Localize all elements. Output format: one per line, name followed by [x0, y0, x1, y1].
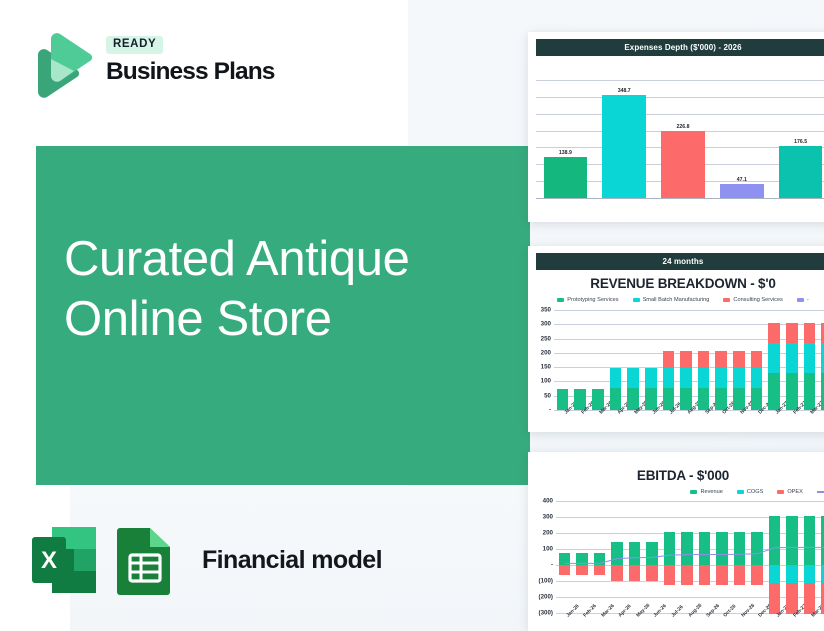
gridline — [554, 339, 824, 340]
gridline — [554, 324, 824, 325]
bar-segment — [768, 323, 780, 344]
bar-segment — [680, 368, 692, 388]
footer-bar: X Financial model — [30, 522, 382, 598]
play-triangle-logo-icon — [30, 32, 94, 98]
svg-text:X: X — [41, 547, 57, 574]
bar-segment — [645, 388, 657, 410]
bar-0 — [544, 157, 588, 198]
legend-label: - — [807, 297, 809, 303]
google-sheets-icon — [114, 525, 176, 595]
y-axis-label: 350 — [541, 307, 551, 314]
y-axis-label: 250 — [541, 335, 551, 342]
legend-label: Prototyping Services — [567, 297, 618, 303]
chart-card-revenue[interactable]: 24 months REVENUE BREAKDOWN - $'0 Protot… — [528, 246, 824, 432]
legend-label: OPEX — [787, 489, 803, 495]
bar-segment — [627, 368, 639, 388]
ebitda-chart-title: EBITDA - $'000 — [528, 468, 824, 483]
y-axis-label: 100 — [541, 378, 551, 385]
bar-segment — [768, 343, 780, 373]
revenue-chart-legend: Prototyping ServicesSmall Batch Manufact… — [528, 297, 824, 303]
legend-swatch-2 — [723, 298, 730, 302]
legend-label: Small Batch Manufacturing — [643, 297, 710, 303]
legend-swatch-0 — [690, 490, 697, 494]
bar-segment — [733, 351, 745, 368]
bar-segment — [733, 388, 745, 410]
y-axis-label: 200 — [541, 349, 551, 356]
ebitda-plot-area: 400300200100-(100)(200)(300)Jan-26Feb-26… — [556, 501, 824, 613]
y-axis-label: (300) — [539, 610, 553, 617]
page-title-line-2: Online Store — [64, 290, 514, 350]
bar-1 — [602, 95, 646, 198]
legend-swatch-1 — [737, 490, 744, 494]
bar-segment — [663, 351, 675, 368]
legend-swatch-3 — [817, 491, 824, 493]
bar-segment — [804, 323, 816, 344]
ebitda-chart-legend: RevenueCOGSOPEX0 — [528, 489, 824, 495]
hero-title-block: Curated Antique Online Store — [36, 146, 530, 485]
y-axis-label: (100) — [539, 578, 553, 585]
bar-segment — [751, 388, 763, 410]
bar-segment — [645, 368, 657, 388]
bar-segment — [610, 388, 622, 410]
legend-swatch-3 — [797, 298, 804, 302]
legend-label: Revenue — [700, 489, 722, 495]
bar-segment — [698, 368, 710, 388]
bar-segment — [680, 351, 692, 368]
y-axis-label: 50 — [544, 392, 551, 399]
legend-item: 0 — [817, 489, 824, 495]
bar-2 — [661, 131, 705, 198]
y-axis-label: 300 — [541, 321, 551, 328]
chart-card-expenses[interactable]: Expenses Depth ($'000) - 2026 138.9348.7… — [528, 32, 824, 222]
gridline — [536, 114, 824, 115]
revenue-chart-banner: 24 months — [536, 253, 824, 270]
legend-item: Consulting Services — [723, 297, 782, 303]
y-axis-label: 150 — [541, 364, 551, 371]
y-axis-label: 400 — [543, 498, 553, 505]
bar-segment — [610, 368, 622, 388]
legend-item: - — [797, 297, 809, 303]
expenses-chart-banner: Expenses Depth ($'000) - 2026 — [536, 39, 824, 56]
bar-segment — [715, 351, 727, 368]
y-axis-label: - — [551, 562, 553, 569]
revenue-chart-title: REVENUE BREAKDOWN - $'0 — [528, 276, 824, 291]
legend-label: COGS — [747, 489, 763, 495]
bar-segment — [786, 323, 798, 344]
bar-segment — [804, 343, 816, 373]
legend-swatch-2 — [777, 490, 784, 494]
bar-segment — [627, 388, 639, 410]
bar-label-1: 348.7 — [618, 88, 631, 94]
legend-swatch-0 — [557, 298, 564, 302]
brand-name: Business Plans — [106, 60, 275, 85]
bar-segment — [698, 351, 710, 368]
legend-item: Revenue — [690, 489, 722, 495]
bar-segment — [663, 368, 675, 388]
brand-logo: READY Business Plans — [30, 30, 330, 100]
gridline — [554, 310, 824, 311]
y-axis-label: 200 — [543, 530, 553, 537]
legend-swatch-1 — [633, 298, 640, 302]
chart-card-ebitda[interactable]: EBITDA - $'000 RevenueCOGSOPEX0 40030020… — [528, 452, 824, 631]
bar-segment — [751, 351, 763, 368]
y-axis-label: 100 — [543, 546, 553, 553]
bar-label-4: 176.5 — [794, 139, 807, 145]
legend-label: Consulting Services — [733, 297, 782, 303]
bar-segment — [592, 389, 604, 410]
bar-4 — [779, 146, 823, 198]
bar-3 — [720, 184, 764, 198]
page-title-line-1: Curated Antique — [64, 230, 514, 290]
axis-baseline — [536, 198, 824, 199]
gridline — [536, 80, 824, 81]
bar-segment — [751, 368, 763, 388]
y-axis-label: - — [549, 407, 551, 414]
page-title: Curated Antique Online Store — [64, 230, 514, 350]
bar-segment — [698, 388, 710, 410]
gridline — [536, 97, 824, 98]
bar-label-3: 47.1 — [737, 177, 747, 183]
bar-label-2: 226.8 — [677, 124, 690, 130]
legend-item: COGS — [737, 489, 763, 495]
legend-item: Small Batch Manufacturing — [633, 297, 710, 303]
legend-item: Prototyping Services — [557, 297, 618, 303]
trend-line — [556, 501, 824, 613]
footer-label: Financial model — [202, 546, 382, 575]
expenses-plot-area: 138.9348.7226.847.1176.5 — [536, 62, 824, 214]
bar-segment — [804, 373, 816, 410]
bar-segment — [715, 368, 727, 388]
brand-text-group: READY Business Plans — [106, 34, 275, 84]
revenue-plot-area: 35030025020015010050-Jan-26Feb-26Mar-26A… — [554, 310, 824, 410]
y-axis-label: 300 — [543, 514, 553, 521]
bar-label-0: 138.9 — [559, 150, 572, 156]
bar-segment — [733, 368, 745, 388]
y-axis-label: (200) — [539, 594, 553, 601]
bar-segment — [786, 343, 798, 373]
bar-segment — [557, 389, 569, 410]
ready-badge: READY — [106, 36, 163, 54]
bar-segment — [680, 388, 692, 410]
bar-segment — [786, 373, 798, 410]
slide-canvas: READY Business Plans Curated Antique Onl… — [0, 0, 824, 631]
microsoft-excel-icon: X — [30, 525, 98, 595]
legend-item: OPEX — [777, 489, 803, 495]
bar-segment — [768, 373, 780, 410]
